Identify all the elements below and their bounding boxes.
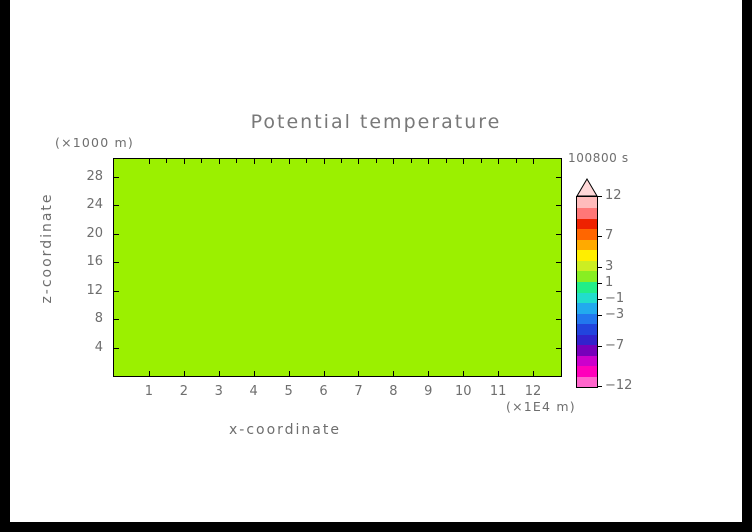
x-tick-top — [463, 158, 464, 164]
colorbar-tick — [597, 267, 602, 268]
y-tick-right — [556, 234, 562, 235]
y-tick-left — [113, 291, 119, 292]
x-tick-top — [184, 158, 185, 164]
x-minor-tick-top — [411, 158, 412, 163]
colorbar-band — [577, 313, 597, 324]
colorbar-band — [577, 366, 597, 377]
colorbar-tick — [597, 299, 602, 300]
y-tick-left — [113, 348, 119, 349]
x-tick-bottom — [149, 371, 150, 377]
y-tick-right — [556, 291, 562, 292]
x-tick-label: 1 — [134, 384, 164, 399]
colorbar-tick-label: 12 — [605, 188, 622, 203]
colorbar-gradient — [576, 196, 598, 388]
x-tick-top — [393, 158, 394, 164]
x-tick-top — [219, 158, 220, 164]
y-tick-label: 8 — [69, 311, 103, 326]
x-tick-bottom — [254, 371, 255, 377]
x-tick-top — [428, 158, 429, 164]
colorbar-tick — [597, 315, 602, 316]
x-tick-bottom — [219, 371, 220, 377]
colorbar-band — [577, 292, 597, 303]
colorbar-tick — [597, 236, 602, 237]
colorbar-tick-label: 7 — [605, 228, 613, 243]
y-axis-units: (×1000 m) — [55, 135, 134, 150]
colorbar-band — [577, 229, 597, 240]
colorbar-band — [577, 239, 597, 250]
x-tick-bottom — [533, 371, 534, 377]
x-minor-tick-top — [236, 158, 237, 163]
x-minor-tick-top — [376, 158, 377, 163]
x-axis-label: x-coordinate — [110, 422, 460, 438]
y-tick-left — [113, 205, 119, 206]
x-axis-units: (×1E4 m) — [506, 399, 576, 414]
colorbar-tick-label: −7 — [605, 338, 624, 353]
colorbar-tick-label: −3 — [605, 307, 624, 322]
x-tick-bottom — [289, 371, 290, 377]
x-tick-top — [358, 158, 359, 164]
x-minor-tick-top — [481, 158, 482, 163]
colorbar-tick-label: 1 — [605, 275, 613, 290]
y-tick-right — [556, 205, 562, 206]
y-tick-label: 16 — [69, 254, 103, 269]
colorbar-tick — [597, 386, 602, 387]
x-tick-bottom — [463, 371, 464, 377]
colorbar-band — [577, 271, 597, 282]
contour-field-canvas — [114, 159, 561, 376]
colorbar-band — [577, 355, 597, 366]
colorbar-tick — [597, 196, 602, 197]
x-minor-tick-top — [341, 158, 342, 163]
colorbar-top-arrow-icon — [576, 178, 598, 197]
x-tick-bottom — [184, 371, 185, 377]
y-tick-label: 24 — [69, 197, 103, 212]
x-tick-label: 12 — [518, 384, 548, 399]
colorbar-tick-label: 3 — [605, 259, 613, 274]
colorbar-band — [577, 250, 597, 261]
x-tick-top — [533, 158, 534, 164]
colorbar-band — [577, 260, 597, 271]
figure-page: Potential temperature (×1000 m) z-coordi… — [10, 0, 742, 522]
x-tick-top — [324, 158, 325, 164]
x-minor-tick-top — [271, 158, 272, 163]
colorbar-band — [577, 197, 597, 208]
x-tick-bottom — [498, 371, 499, 377]
timestamp-label: 100800 s — [568, 151, 629, 165]
y-tick-right — [556, 348, 562, 349]
y-tick-label: 12 — [69, 283, 103, 298]
colorbar-band — [577, 376, 597, 387]
x-tick-label: 5 — [274, 384, 304, 399]
x-tick-label: 11 — [483, 384, 513, 399]
y-tick-label: 28 — [69, 169, 103, 184]
screenshot-canvas: Potential temperature (×1000 m) z-coordi… — [0, 0, 752, 532]
x-minor-tick-top — [201, 158, 202, 163]
y-tick-left — [113, 177, 119, 178]
x-minor-tick-top — [516, 158, 517, 163]
x-tick-top — [289, 158, 290, 164]
colorbar-band — [577, 303, 597, 314]
x-tick-label: 3 — [204, 384, 234, 399]
x-tick-label: 8 — [378, 384, 408, 399]
x-tick-top — [149, 158, 150, 164]
x-tick-bottom — [393, 371, 394, 377]
x-tick-bottom — [324, 371, 325, 377]
y-tick-right — [556, 177, 562, 178]
x-tick-bottom — [358, 371, 359, 377]
x-tick-label: 4 — [239, 384, 269, 399]
page-title: Potential temperature — [10, 111, 742, 133]
colorbar-tick-label: −12 — [605, 378, 632, 393]
x-tick-label: 2 — [169, 384, 199, 399]
colorbar-tick-label: −1 — [605, 291, 624, 306]
colorbar-band — [577, 324, 597, 335]
x-tick-label: 10 — [448, 384, 478, 399]
colorbar-tick — [597, 283, 602, 284]
colorbar-band — [577, 218, 597, 229]
y-tick-label: 4 — [69, 340, 103, 355]
y-tick-left — [113, 262, 119, 263]
y-tick-left — [113, 319, 119, 320]
contour-plot-area — [113, 158, 562, 377]
x-tick-label: 9 — [413, 384, 443, 399]
y-tick-label: 20 — [69, 226, 103, 241]
colorbar-band — [577, 208, 597, 219]
colorbar-band — [577, 334, 597, 345]
x-minor-tick-top — [166, 158, 167, 163]
y-tick-right — [556, 262, 562, 263]
y-tick-left — [113, 234, 119, 235]
colorbar-band — [577, 345, 597, 356]
y-tick-right — [556, 319, 562, 320]
x-tick-label: 7 — [343, 384, 373, 399]
x-minor-tick-top — [446, 158, 447, 163]
x-tick-top — [254, 158, 255, 164]
x-tick-top — [498, 158, 499, 164]
colorbar-tick — [597, 346, 602, 347]
y-axis-label: z-coordinate — [39, 178, 55, 318]
x-tick-bottom — [428, 371, 429, 377]
x-minor-tick-top — [306, 158, 307, 163]
colorbar-band — [577, 281, 597, 292]
x-tick-label: 6 — [309, 384, 339, 399]
